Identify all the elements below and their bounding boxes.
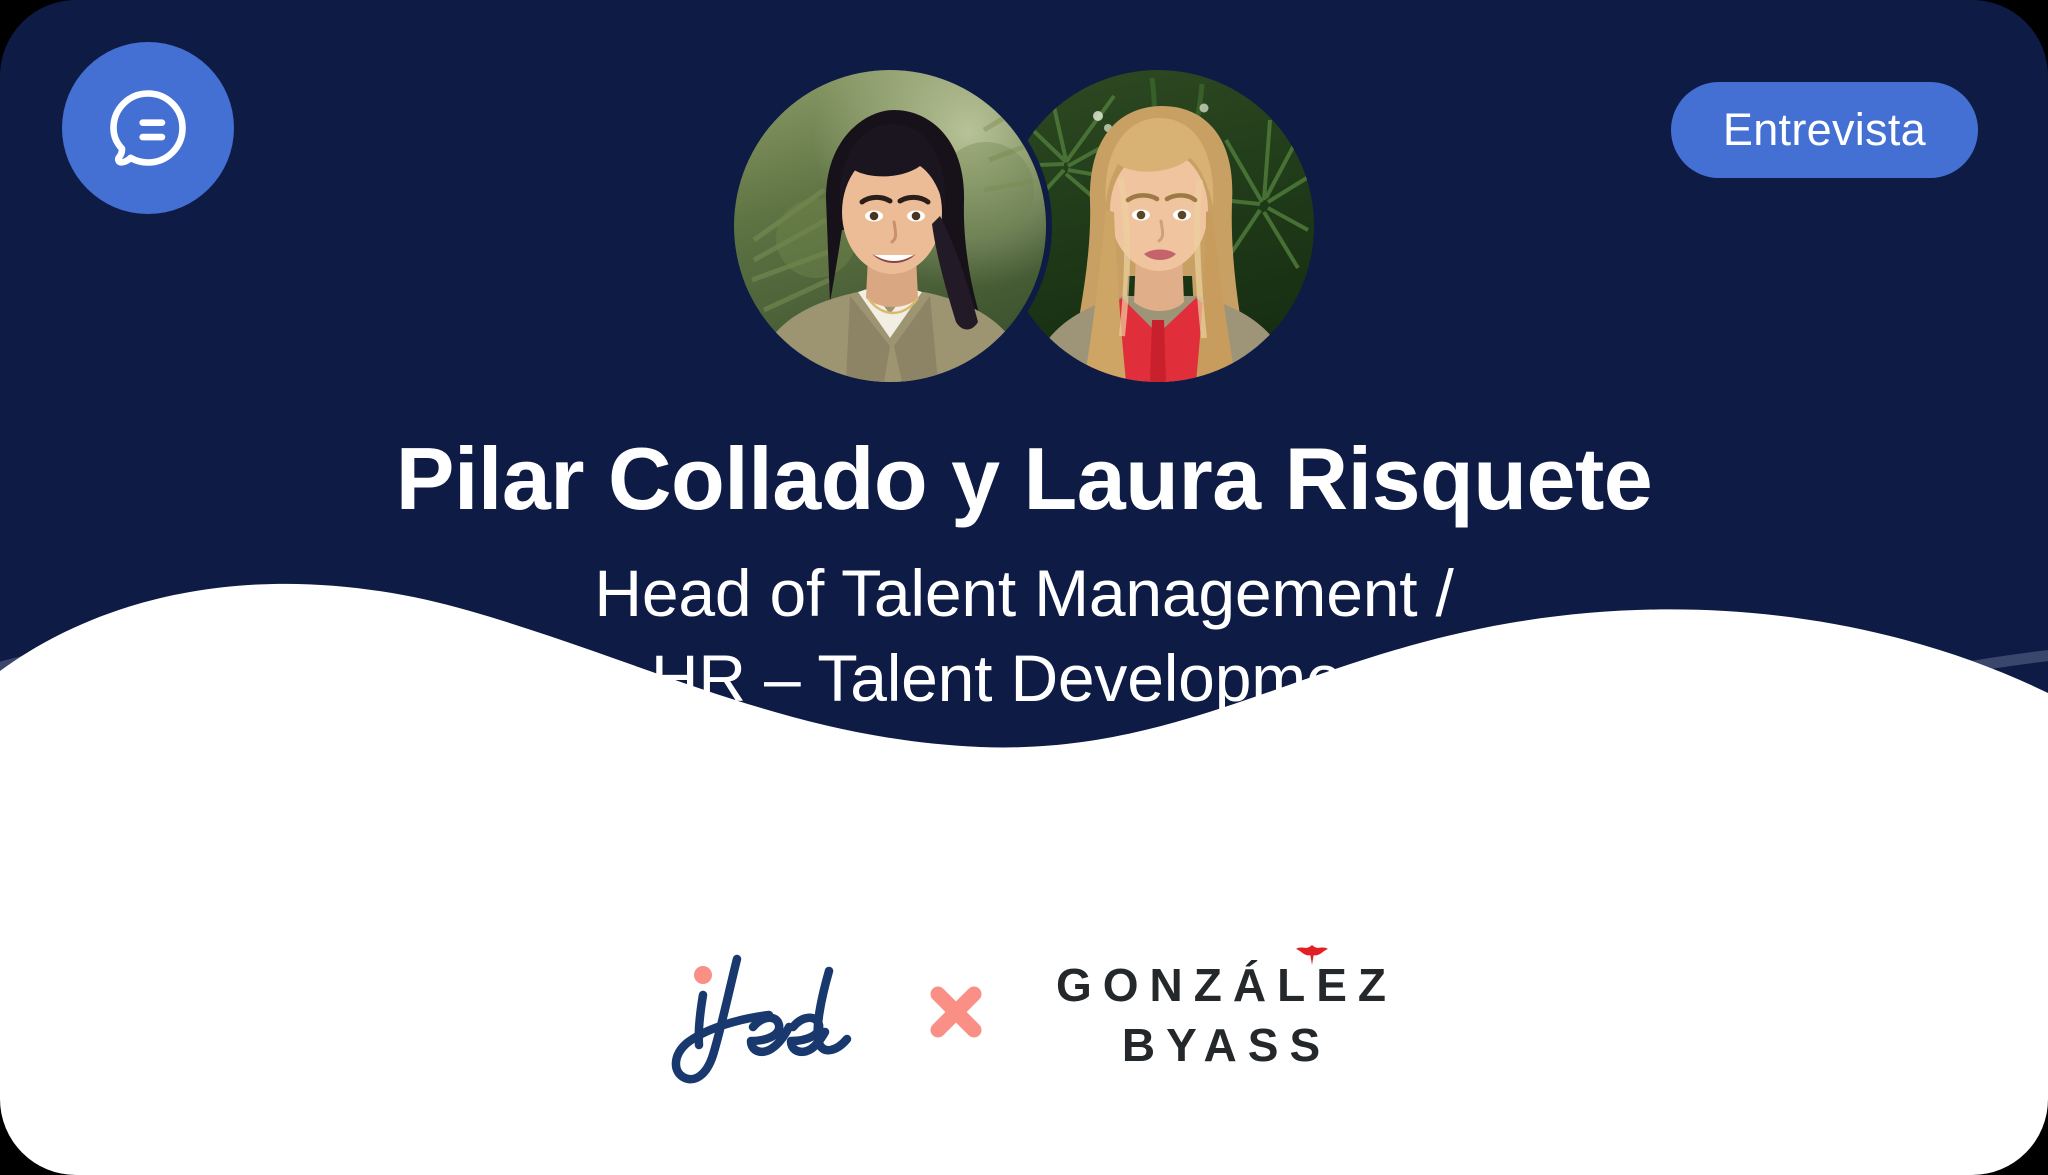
ifeel-dot-icon bbox=[694, 966, 712, 984]
portraits-group bbox=[734, 70, 1314, 382]
collab-x-icon bbox=[925, 981, 987, 1043]
portrait-laura-risquete bbox=[1002, 70, 1314, 382]
interview-promo-card: Entrevista bbox=[0, 0, 2048, 1175]
footer-logos: GONZÁLEZ BYASS bbox=[0, 937, 2048, 1087]
tag-label: Entrevista bbox=[1723, 104, 1926, 156]
gb-line-1-text: GONZÁLEZ bbox=[1056, 959, 1397, 1011]
gb-line-1: GONZÁLEZ bbox=[1045, 961, 1397, 1009]
gonzalez-byass-logo: GONZÁLEZ BYASS bbox=[1045, 955, 1397, 1070]
chat-badge bbox=[62, 42, 234, 214]
chat-bubble-lines-icon bbox=[102, 82, 194, 174]
page-title: Pilar Collado y Laura Risquete bbox=[0, 430, 2048, 529]
bat-accent-icon bbox=[1294, 941, 1330, 969]
ifeel-logo bbox=[651, 937, 867, 1087]
portrait-pilar-collado bbox=[734, 70, 1046, 382]
white-wave-divider bbox=[0, 525, 2048, 755]
gb-line-2: BYASS bbox=[1111, 1021, 1331, 1069]
tag-entrevista[interactable]: Entrevista bbox=[1671, 82, 1978, 178]
